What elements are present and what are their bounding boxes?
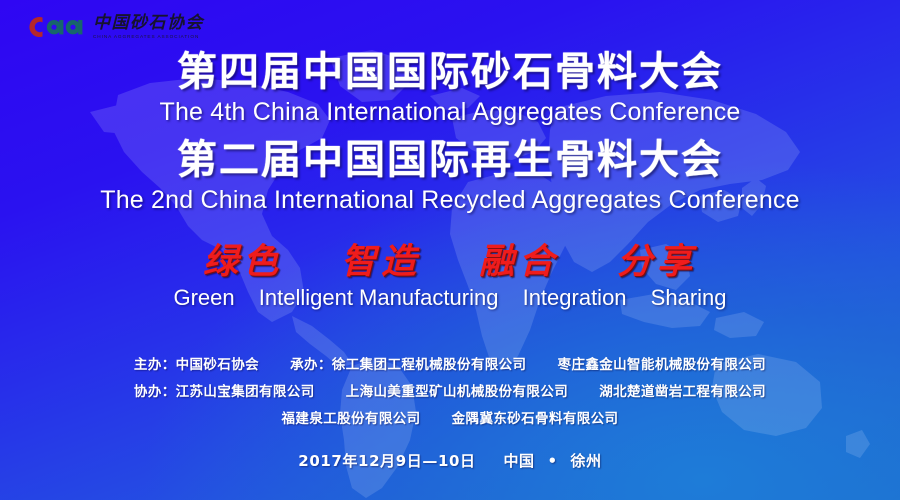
slogan-word-sharing-cn: 分享 (617, 240, 697, 284)
coorganizer-5: 金隅冀东砂石骨料有限公司 (452, 411, 619, 427)
event-datebar: 2017年12月9日—10日 中国 • 徐州 (0, 450, 900, 472)
slogan-word-integration-cn: 融合 (479, 240, 559, 284)
slogan-word-green-en: Green (173, 285, 234, 310)
coorganizer-1: 协办：江苏山宝集团有限公司 (134, 384, 315, 400)
slogan-word-integration-en: Integration (523, 285, 627, 310)
logo-association-name-cn: 中国砂石协会 (93, 14, 204, 33)
organizers-block: 主办：中国砂石协会 承办：徐工集团工程机械股份有限公司 枣庄鑫金山智能机械股份有… (0, 352, 900, 433)
organizer-undertaker-1: 承办：徐工集团工程机械股份有限公司 (290, 357, 526, 373)
slogan-word-green-cn: 绿色 (203, 240, 283, 284)
organizer-undertaker-2: 枣庄鑫金山智能机械股份有限公司 (558, 357, 767, 373)
organizer-line-coorganizer-2: 福建泉工股份有限公司 金隅冀东砂石骨料有限公司 (0, 406, 900, 433)
conference-title-secondary-en: The 2nd China International Recycled Agg… (0, 184, 900, 217)
headline-block: 第四届中国国际砂石骨料大会 The 4th China Internationa… (0, 48, 900, 217)
slogan-en: Green Intelligent Manufacturing Integrat… (0, 284, 900, 312)
slogan-word-intelligent-manufacturing-cn: 智造 (341, 240, 421, 284)
conference-title-primary-cn: 第四届中国国际砂石骨料大会 (0, 48, 900, 96)
event-country: 中国 (503, 452, 534, 470)
event-date: 2017年12月9日—10日 (298, 452, 475, 470)
conference-poster: 中国砂石协会 CHINA AGGREGATES ASSOCIATION 第四届中… (0, 0, 900, 500)
coorganizer-3: 湖北楚道凿岩工程有限公司 (599, 384, 766, 400)
event-city: 徐州 (571, 452, 602, 470)
conference-title-primary-en: The 4th China International Aggregates C… (0, 96, 900, 129)
organizer-line-host: 主办：中国砂石协会 承办：徐工集团工程机械股份有限公司 枣庄鑫金山智能机械股份有… (0, 352, 900, 379)
separator-dot: • (547, 452, 557, 470)
slogan-cn: 绿色 智造 融合 分享 (0, 240, 900, 284)
logo-association-name-en: CHINA AGGREGATES ASSOCIATION (93, 33, 206, 40)
coorganizer-2: 上海山美重型矿山机械股份有限公司 (346, 384, 568, 400)
caa-logo[interactable]: 中国砂石协会 CHINA AGGREGATES ASSOCIATION (18, 9, 204, 45)
conference-title-secondary-cn: 第二届中国国际再生骨料大会 (0, 136, 900, 184)
slogan-word-sharing-en: Sharing (651, 285, 727, 310)
coorganizer-4: 福建泉工股份有限公司 (282, 411, 421, 427)
organizer-line-coorganizer-1: 协办：江苏山宝集团有限公司 上海山美重型矿山机械股份有限公司 湖北楚道凿岩工程有… (0, 379, 900, 406)
organizer-host: 主办：中国砂石协会 (134, 357, 259, 373)
slogan-word-intelligent-manufacturing-en: Intelligent Manufacturing (259, 285, 499, 310)
caa-logo-mark (18, 12, 86, 42)
